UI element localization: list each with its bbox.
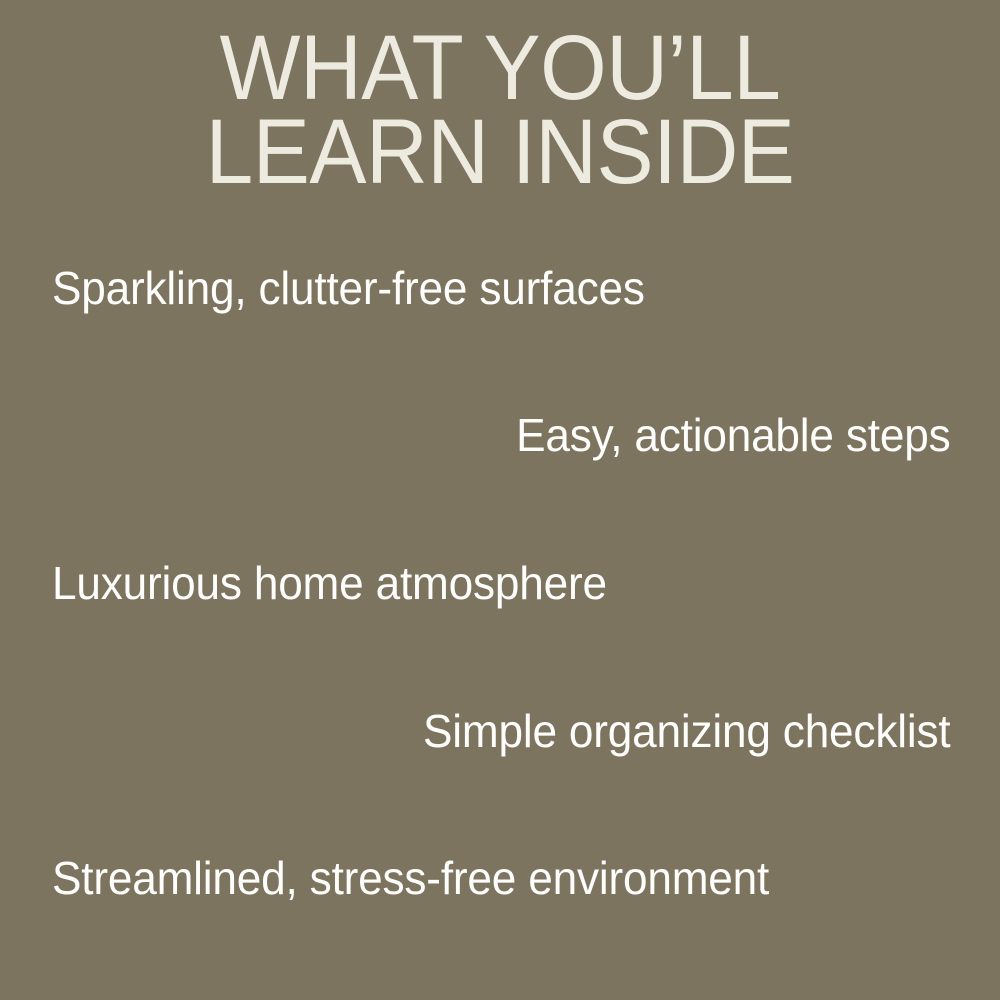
list-item: Sparkling, clutter-free surfaces: [0, 258, 1000, 318]
list-item: Simple organizing checklist: [0, 701, 1000, 761]
benefit-text: Easy, actionable steps: [516, 405, 950, 465]
list-item: Streamlined, stress-free environment: [0, 848, 1000, 908]
benefit-list: Sparkling, clutter-free surfaces Easy, a…: [0, 0, 1000, 1000]
benefit-text: Sparkling, clutter-free surfaces: [52, 258, 645, 318]
poster-canvas: WHAT YOU’LL LEARN INSIDE Sparkling, clut…: [0, 0, 1000, 1000]
benefit-text: Simple organizing checklist: [423, 701, 950, 761]
benefit-text: Streamlined, stress-free environment: [52, 848, 769, 908]
list-item: Luxurious home atmosphere: [0, 553, 1000, 613]
benefit-text: Luxurious home atmosphere: [52, 553, 607, 613]
list-item: Easy, actionable steps: [0, 405, 1000, 465]
